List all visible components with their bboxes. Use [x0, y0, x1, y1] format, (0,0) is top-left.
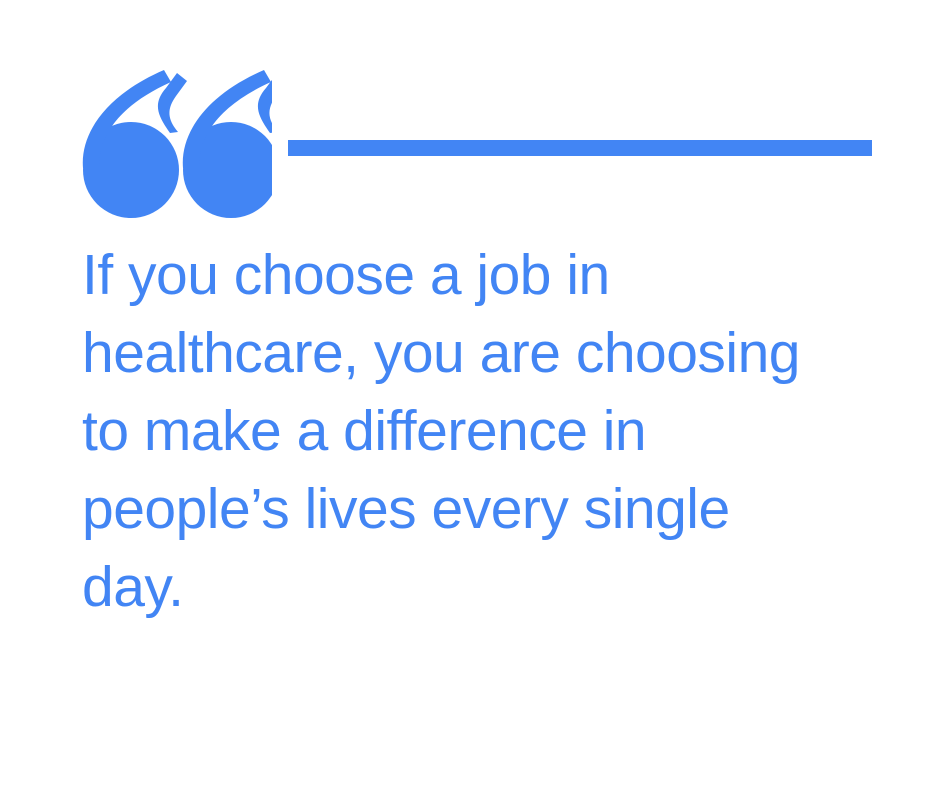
quote-card: If you choose a job in healthcare, you a…: [0, 0, 940, 788]
double-quote-open-icon: [82, 70, 272, 220]
quote-header: [82, 70, 872, 222]
quote-divider-rule: [288, 140, 872, 156]
quote-text: If you choose a job in healthcare, you a…: [82, 236, 882, 626]
